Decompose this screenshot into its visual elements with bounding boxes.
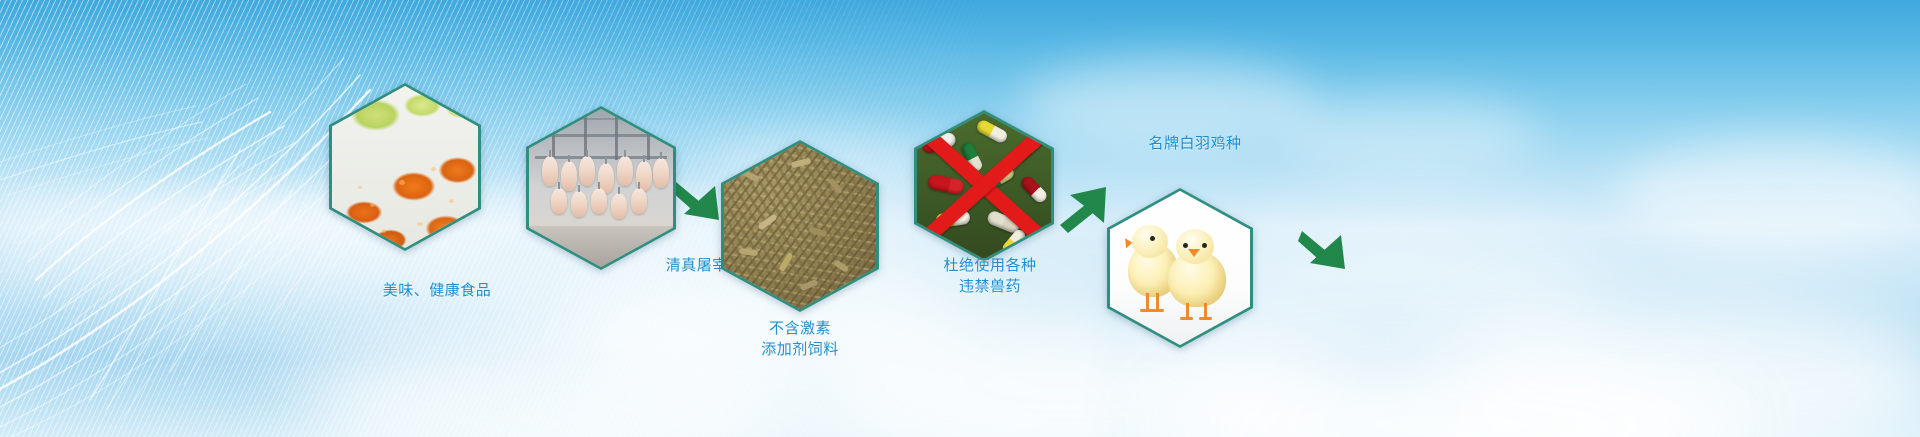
hexagon-frame	[526, 106, 676, 270]
baby-chicks-photo	[1110, 191, 1250, 345]
flow-step-1-label: 美味、健康食品	[352, 280, 522, 301]
arrow-down-right-icon	[1298, 225, 1360, 283]
flow-step-2[interactable]	[526, 106, 676, 270]
flow-step-5[interactable]	[1107, 188, 1253, 348]
hexagon-frame	[329, 83, 481, 251]
medicine-capsules-photo	[917, 113, 1051, 259]
chick-front	[1166, 225, 1236, 323]
flow-step-5-label: 名牌白羽鸡种	[1105, 133, 1285, 154]
label-line: 添加剂饲料	[720, 339, 880, 360]
label-line: 美味、健康食品	[352, 280, 522, 301]
feed-pellets-photo	[724, 143, 876, 309]
hexagon-image-clip	[917, 113, 1051, 259]
hexagon-image-clip	[332, 86, 478, 248]
hexagon-image-clip	[724, 143, 876, 309]
fried-chicken-photo	[332, 86, 478, 248]
hexagon-frame	[1107, 188, 1253, 348]
hexagon-image-clip	[529, 109, 673, 267]
flow-step-3[interactable]	[721, 140, 879, 312]
flow-step-4[interactable]	[914, 110, 1054, 262]
label-line: 不含激素	[720, 318, 880, 339]
hexagon-frame	[914, 110, 1054, 262]
flow-step-4-label: 杜绝使用各种 违禁兽药	[900, 255, 1080, 297]
poultry-processing-photo	[529, 109, 673, 267]
connector-arrow-4	[1298, 225, 1360, 283]
hexagon-frame	[721, 140, 879, 312]
hexagon-image-clip	[1110, 191, 1250, 345]
flow-step-3-label: 不含激素 添加剂饲料	[720, 318, 880, 360]
label-line: 杜绝使用各种	[900, 255, 1080, 276]
flow-step-1[interactable]	[329, 83, 481, 251]
label-line: 名牌白羽鸡种	[1105, 133, 1285, 154]
promotional-banner: 美味、健康食品	[0, 0, 1920, 437]
label-line: 违禁兽药	[900, 276, 1080, 297]
